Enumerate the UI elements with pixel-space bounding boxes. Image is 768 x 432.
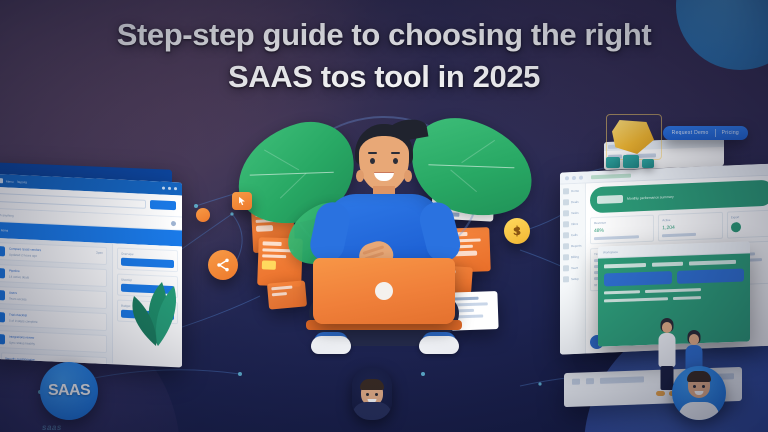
stat-card[interactable]: Revenue 48% <box>590 215 654 245</box>
avatar-hair <box>687 371 711 382</box>
avatar-face <box>688 374 710 398</box>
cta-secondary-label[interactable]: Pricing <box>722 130 739 136</box>
sidebar-item-deals[interactable]: Deals <box>563 199 582 206</box>
sidebar-label: Inbox <box>571 222 578 226</box>
person-shoe-left <box>311 336 351 354</box>
gold-3d-decoration <box>604 114 668 168</box>
saas-logo-label: SAAS <box>48 382 90 400</box>
person-eye <box>370 158 375 164</box>
sidebar-label: Reports <box>571 244 582 248</box>
stat-value: 48% <box>594 226 650 234</box>
laptop <box>313 258 455 324</box>
center-illustration <box>248 110 520 370</box>
avatar-body <box>352 402 392 420</box>
sidebar-label: Team <box>571 266 578 270</box>
left-titlebar-item-0[interactable]: Menu <box>6 179 14 183</box>
coin-icon[interactable] <box>504 218 530 244</box>
deals-icon <box>563 199 569 205</box>
row-avatar <box>0 268 5 278</box>
row-meta: Open <box>96 251 103 255</box>
search-placeholder: Search anything <box>0 213 14 218</box>
person-ear <box>356 170 364 182</box>
stat-card[interactable]: Active 1,204 <box>658 212 722 242</box>
avatar-eye <box>702 385 705 388</box>
headline-line-1: Step-step guide to choosing the right <box>117 17 652 52</box>
stat-label: Active <box>662 216 718 222</box>
dot-node-icon <box>196 208 210 222</box>
sidebar-label: Billing <box>571 255 579 259</box>
sidebar-item-setup[interactable]: Setup <box>563 276 582 283</box>
sidebar-item-home[interactable]: Home <box>563 188 582 195</box>
search-input[interactable] <box>0 193 146 209</box>
teal-block <box>623 155 639 168</box>
figure-shoe <box>656 391 665 396</box>
cta-primary-label[interactable]: Request Demo <box>672 130 709 136</box>
cta-pill-button[interactable]: Request Demo Pricing <box>663 126 748 140</box>
titlebar-dot-icon <box>162 187 165 190</box>
sidebar-label: Setup <box>571 277 579 281</box>
person-face <box>359 136 409 192</box>
export-panel[interactable]: Export <box>727 210 768 239</box>
book-demo-button[interactable] <box>677 269 745 284</box>
sidebar-item-billing[interactable]: Billing <box>563 254 582 261</box>
sidebar-label: Tasks <box>571 211 579 215</box>
teal-block <box>606 157 620 168</box>
avatar-smile <box>695 391 704 395</box>
right-dashboard-sidebar[interactable]: Home Deals Tasks Inbox Calls Reports Bil… <box>560 183 586 354</box>
table-row[interactable]: Users Team access <box>0 286 107 309</box>
avatar-body <box>679 402 719 420</box>
start-trial-button[interactable] <box>604 271 672 286</box>
sidebar-item-calls[interactable]: Calls <box>563 232 582 239</box>
center-avatar[interactable] <box>352 368 392 420</box>
person-eye <box>393 158 398 164</box>
sidebar-label: Deals <box>571 200 579 204</box>
dashboard-banner[interactable]: Monthly performance summary <box>590 180 768 214</box>
row-avatar <box>0 246 5 256</box>
table-row[interactable]: Integrations review Sync status healthy <box>0 330 107 353</box>
section-header-label: Work Items <box>0 228 8 233</box>
left-titlebar-item-1[interactable]: Reports <box>17 179 28 183</box>
figure-face <box>662 322 672 333</box>
sidebar-item-tasks[interactable]: Tasks <box>563 210 582 217</box>
teal-block <box>642 159 654 168</box>
users-icon <box>563 265 569 271</box>
laptop-logo-icon <box>375 282 393 300</box>
person-ear <box>404 170 412 182</box>
trial-modal-actions <box>604 269 744 287</box>
page-title: Step-step guide to choosing the right SA… <box>0 14 768 98</box>
tasks-icon <box>563 210 569 216</box>
person-eyebrow <box>368 152 377 154</box>
cta-divider <box>715 129 716 137</box>
stat-value: 1,204 <box>662 223 718 231</box>
person-eyebrow <box>391 152 400 154</box>
figure-legs <box>661 366 674 390</box>
avatar-hair <box>360 379 384 390</box>
search-icon[interactable] <box>171 220 176 225</box>
sidebar-item-team[interactable]: Team <box>563 265 582 272</box>
titlebar-dot-icon <box>174 187 177 190</box>
banner-subtitle: Monthly performance summary <box>627 195 674 201</box>
share-network-icon[interactable] <box>208 250 238 280</box>
figure-face <box>689 334 699 345</box>
row-avatar <box>0 334 5 344</box>
phone-icon <box>563 232 569 238</box>
cursor-icon[interactable] <box>232 192 252 210</box>
saas-logo-badge[interactable]: SAAS <box>40 362 98 420</box>
home-icon <box>563 188 569 194</box>
card-icon <box>563 254 569 260</box>
left-dashboard-list: Compare SaaS vendors Updated 2 hours ago… <box>0 238 112 364</box>
row-avatar <box>0 312 5 322</box>
titlebar-dot-icon <box>168 187 171 190</box>
create-button[interactable] <box>150 200 176 210</box>
table-row[interactable]: Pipeline 14 active deals <box>0 264 107 287</box>
hero-graphic: Step-step guide to choosing the right SA… <box>0 0 768 432</box>
bottom-watermark-text: saas <box>42 423 62 432</box>
person-smile <box>374 172 394 181</box>
figure-body <box>659 333 676 367</box>
inbox-icon <box>563 221 569 227</box>
banner-button-label: Export <box>731 214 768 220</box>
row-avatar <box>0 290 5 300</box>
gear-icon <box>563 276 569 282</box>
banner-logo <box>597 195 623 204</box>
person-figure <box>299 124 469 354</box>
avatar-eye <box>693 385 696 388</box>
table-row[interactable]: Trial checklist 5 of 9 steps complete <box>0 308 107 331</box>
table-row[interactable]: Compare SaaS vendors Updated 2 hours ago… <box>0 242 107 265</box>
chart-icon <box>563 243 569 249</box>
avatar-eye <box>375 393 378 396</box>
stat-label: Revenue <box>594 219 650 225</box>
sidebar-item-inbox[interactable]: Inbox <box>563 221 582 228</box>
right-avatar[interactable] <box>672 366 726 420</box>
headline-line-2: SAAS tos tool in 2025 <box>40 56 728 98</box>
download-icon[interactable] <box>731 222 741 232</box>
avatar-eye <box>366 393 369 396</box>
sidebar-label: Home <box>571 189 579 193</box>
trial-modal-title: Workspace <box>603 249 618 254</box>
person-shoe-right <box>419 336 459 354</box>
stat-card-row: Revenue 48% Active 1,204 Export <box>590 210 768 245</box>
sidebar-item-reports[interactable]: Reports <box>563 243 582 250</box>
sidebar-label: Calls <box>571 233 578 237</box>
foreground-plant-decoration <box>118 228 190 348</box>
